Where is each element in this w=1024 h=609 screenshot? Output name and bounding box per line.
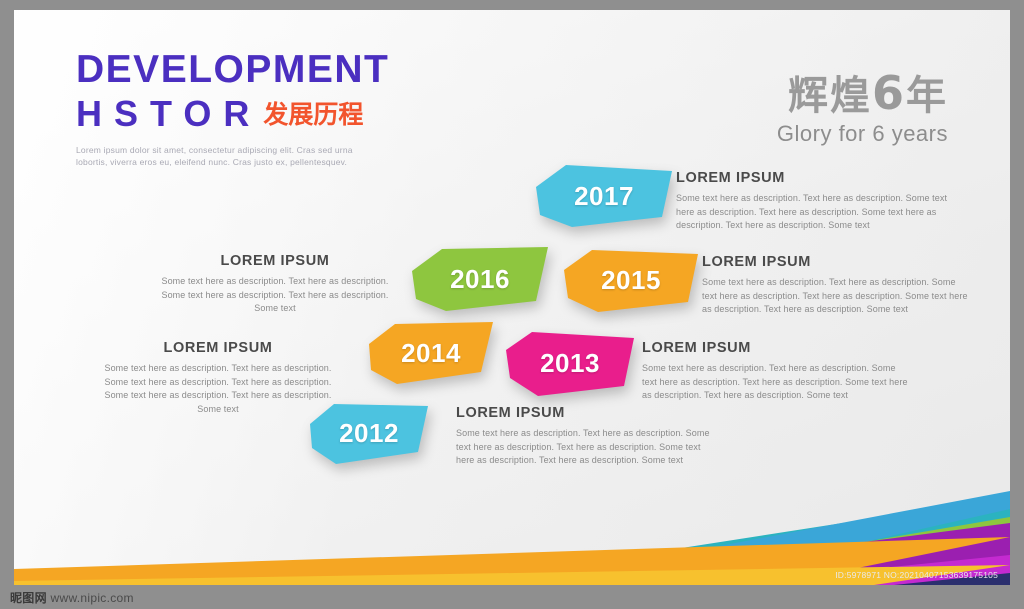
milestone-body: Some text here as description. Text here… bbox=[702, 276, 970, 317]
milestone-text-2015: LOREM IPSUM Some text here as descriptio… bbox=[702, 254, 970, 317]
poster-body: DEVELOPMENT HSTOR 发展历程 Lorem ipsum dolor… bbox=[14, 10, 1010, 585]
image-id-text: ID:5978971 NO:20210407153639175105 bbox=[835, 570, 998, 580]
glory-number: 6 bbox=[872, 66, 906, 120]
badge-2016[interactable]: 2016 bbox=[412, 247, 548, 311]
milestone-text-2017: LOREM IPSUM Some text here as descriptio… bbox=[676, 170, 952, 233]
badge-2017[interactable]: 2017 bbox=[536, 165, 672, 227]
badge-2013[interactable]: 2013 bbox=[506, 330, 634, 396]
year-label: 2015 bbox=[601, 265, 661, 296]
glory-suffix: 年 bbox=[906, 73, 948, 119]
milestone-heading: LOREM IPSUM bbox=[154, 253, 396, 269]
milestone-2014[interactable]: 2014 bbox=[369, 322, 493, 384]
milestone-body: Some text here as description. Text here… bbox=[676, 192, 952, 233]
milestone-2017[interactable]: 2017 bbox=[536, 165, 672, 227]
year-label: 2017 bbox=[574, 181, 634, 212]
milestone-text-2016: LOREM IPSUM Some text here as descriptio… bbox=[154, 253, 396, 316]
footer-branding: 昵图网 www.nipic.com bbox=[10, 589, 134, 606]
milestone-2013[interactable]: 2013 bbox=[506, 330, 634, 396]
year-label: 2014 bbox=[401, 338, 461, 369]
title-block: DEVELOPMENT HSTOR 发展历程 Lorem ipsum dolor… bbox=[76, 48, 389, 168]
badge-2014[interactable]: 2014 bbox=[369, 322, 493, 384]
page-title: DEVELOPMENT bbox=[76, 48, 389, 92]
header-description: Lorem ipsum dolor sit amet, consectetur … bbox=[76, 144, 376, 168]
milestone-heading: LOREM IPSUM bbox=[702, 254, 970, 270]
milestone-heading: LOREM IPSUM bbox=[94, 340, 342, 356]
year-label: 2016 bbox=[450, 264, 510, 295]
glory-block: 辉煌6年 Glory for 6 years bbox=[777, 70, 948, 147]
site-name-cn: 昵图网 bbox=[10, 591, 47, 605]
milestone-heading: LOREM IPSUM bbox=[676, 170, 952, 186]
milestone-body: Some text here as description. Text here… bbox=[154, 275, 396, 316]
milestone-body: Some text here as description. Text here… bbox=[642, 362, 910, 403]
glory-title-cn: 辉煌6年 bbox=[777, 70, 948, 119]
glory-prefix: 辉煌 bbox=[788, 73, 872, 119]
milestone-heading: LOREM IPSUM bbox=[642, 340, 910, 356]
milestone-2016[interactable]: 2016 bbox=[412, 247, 548, 311]
poster-canvas: DEVELOPMENT HSTOR 发展历程 Lorem ipsum dolor… bbox=[0, 0, 1024, 609]
badge-2015[interactable]: 2015 bbox=[564, 248, 698, 312]
page-subtitle: HSTOR bbox=[76, 94, 261, 134]
year-label: 2013 bbox=[540, 348, 600, 379]
site-url: www.nipic.com bbox=[51, 591, 134, 605]
ribbon-graphic bbox=[14, 405, 1010, 585]
footer-bar: 昵图网 www.nipic.com bbox=[0, 585, 1024, 609]
glory-title-en: Glory for 6 years bbox=[777, 121, 948, 147]
milestone-text-2013: LOREM IPSUM Some text here as descriptio… bbox=[642, 340, 910, 403]
page-subtitle-cn: 发展历程 bbox=[263, 95, 363, 131]
milestone-2015[interactable]: 2015 bbox=[564, 248, 698, 312]
subtitle-row: HSTOR 发展历程 bbox=[76, 94, 389, 134]
